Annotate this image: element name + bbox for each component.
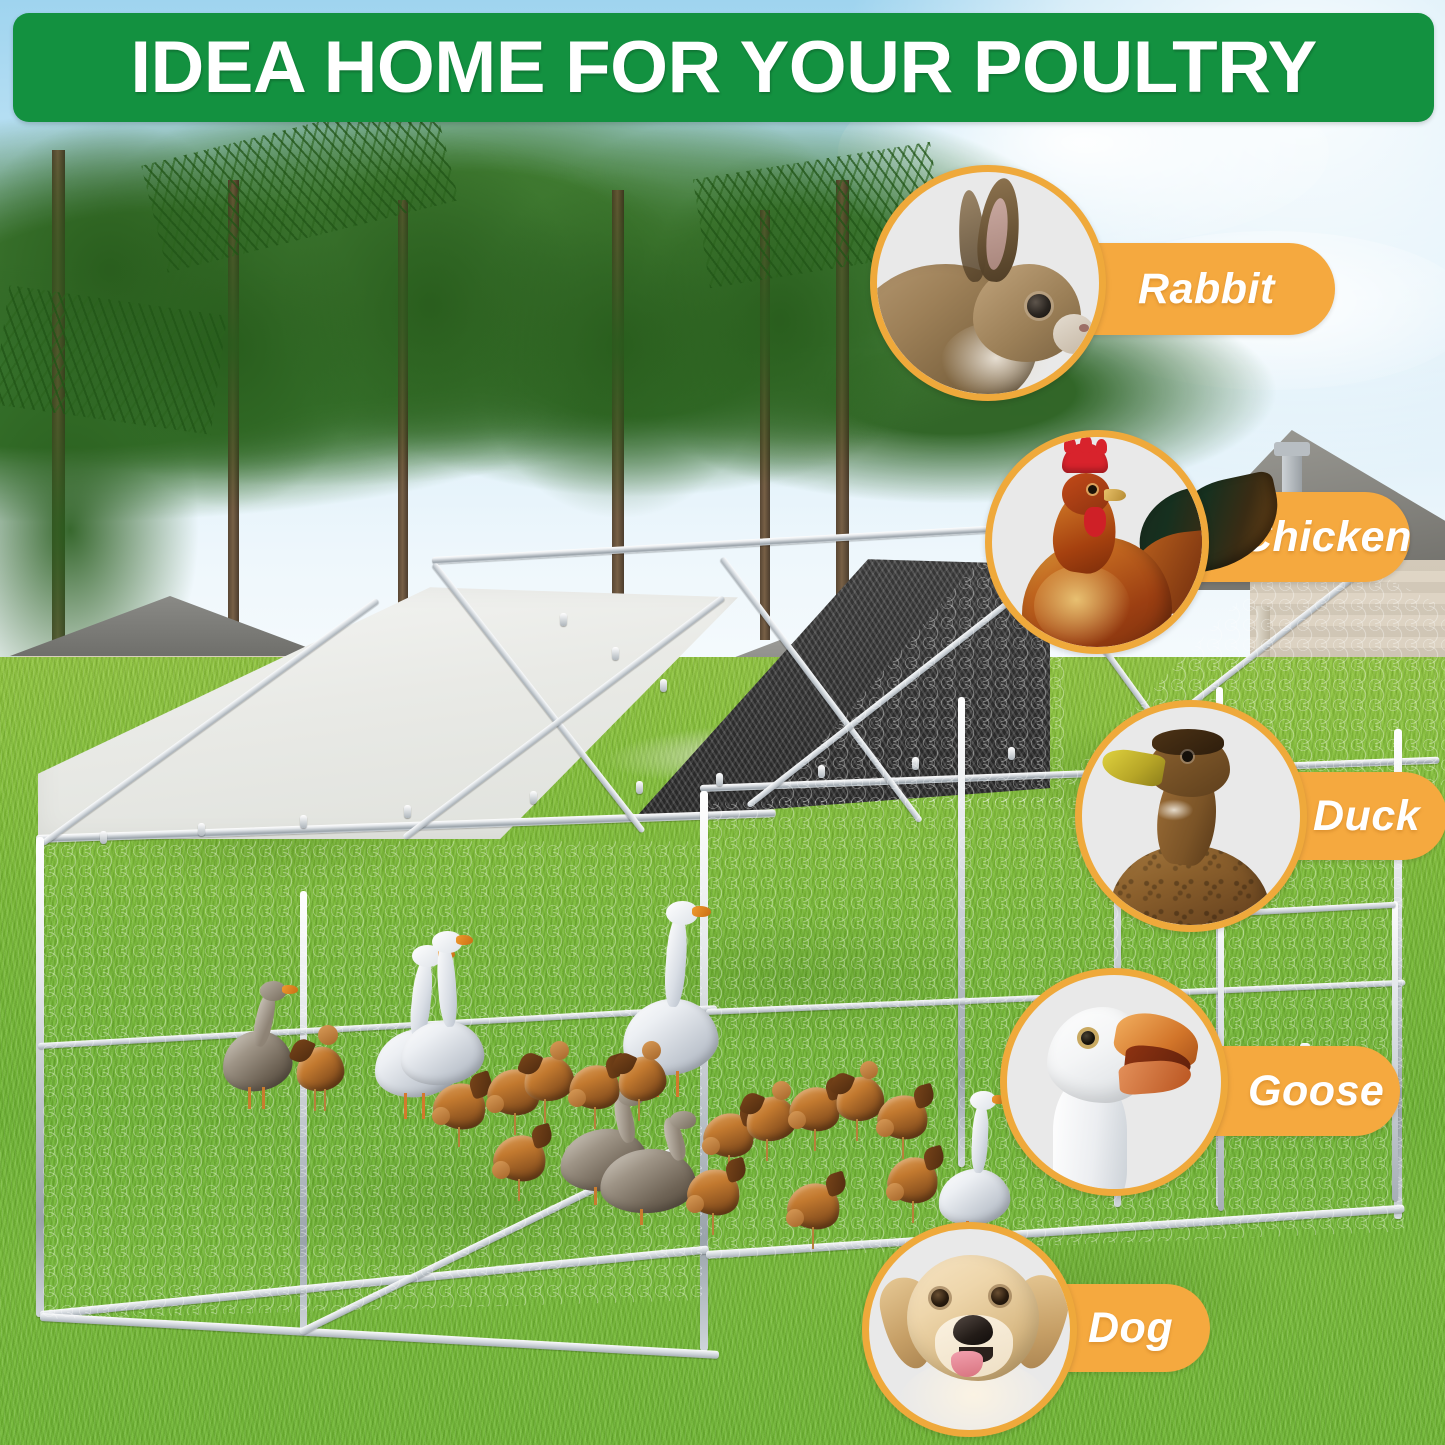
roof-cover-white: [38, 587, 738, 839]
chicken: [430, 1067, 492, 1151]
roof-hook: [560, 613, 567, 626]
roof-hook: [404, 805, 411, 818]
dog-photo-icon: [862, 1222, 1077, 1437]
chicken: [490, 1119, 552, 1207]
chicken: [884, 1141, 944, 1229]
callout-label-dog: Dog: [1088, 1307, 1173, 1350]
callout-dog[interactable]: Dog: [862, 1222, 1222, 1437]
goose-photo-icon: [1000, 968, 1228, 1196]
chicken: [614, 1039, 672, 1131]
roof-hook: [530, 791, 537, 804]
header-banner: IDEA HOME FOR YOUR POULTRY: [13, 13, 1434, 122]
roof-ridge-bar: [432, 522, 1071, 565]
roof-hook: [612, 647, 619, 660]
duck-photo-icon: [1075, 700, 1307, 932]
banner-title: IDEA HOME FOR YOUR POULTRY: [130, 31, 1316, 104]
roof-hook: [300, 815, 307, 828]
callout-rabbit[interactable]: Rabbit: [870, 165, 1430, 415]
rooster-photo-icon: [985, 430, 1209, 654]
callout-duck[interactable]: Duck: [1075, 700, 1435, 948]
product-image-canvas: IDEA HOME FOR YOUR POULTRY Rabbit Chicke…: [0, 0, 1445, 1445]
chicken: [292, 1019, 350, 1115]
callout-chicken[interactable]: Chicken: [985, 430, 1420, 660]
callout-label-rabbit: Rabbit: [1138, 268, 1275, 311]
roof-hook: [636, 781, 643, 794]
rabbit-photo-icon: [870, 165, 1106, 401]
callout-label-goose: Goose: [1248, 1070, 1384, 1113]
roof-hook: [198, 823, 205, 836]
callout-label-duck: Duck: [1313, 795, 1420, 838]
roof-hook: [716, 773, 723, 786]
chicken: [784, 1167, 846, 1255]
callout-goose[interactable]: Goose: [1000, 968, 1400, 1208]
chicken: [684, 1153, 746, 1241]
roof-hook: [660, 679, 667, 692]
